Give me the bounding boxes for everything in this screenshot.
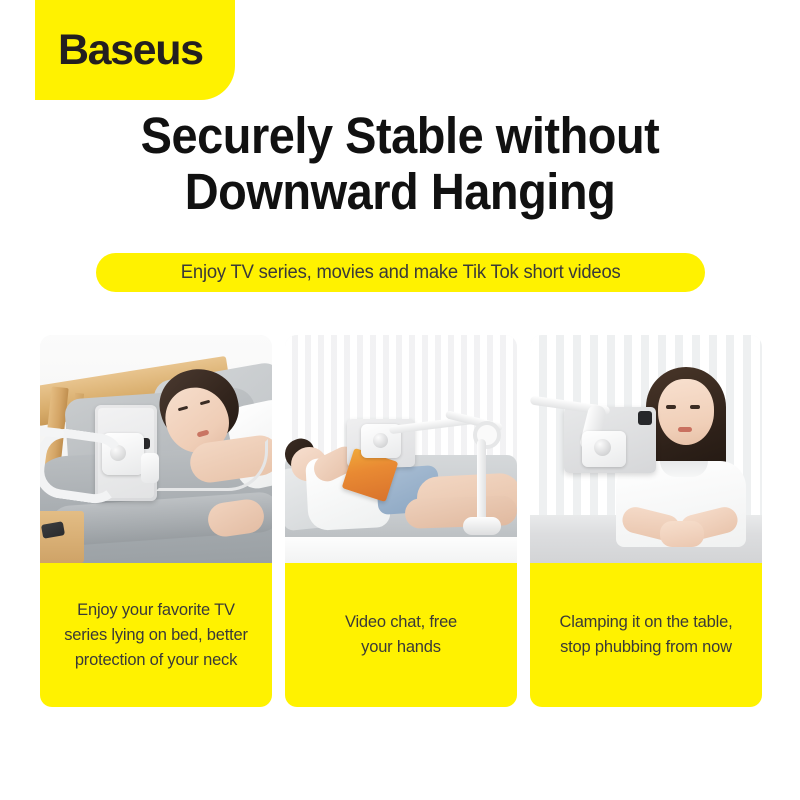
photo-sofa-scene bbox=[285, 335, 517, 563]
headline-line-2: Downward Hanging bbox=[32, 164, 768, 220]
feature-panels: Enjoy your favorite TV series lying on b… bbox=[40, 335, 762, 707]
photo-bed-scene bbox=[40, 335, 272, 563]
feature-panel-desk: Clamping it on the table, stop phubbing … bbox=[530, 335, 762, 707]
caption-text-bed: Enjoy your favorite TV series lying on b… bbox=[64, 598, 248, 673]
brand-logo-block: Baseus bbox=[35, 0, 235, 100]
photo-desk-scene bbox=[530, 335, 762, 563]
caption-box-desk: Clamping it on the table, stop phubbing … bbox=[530, 563, 762, 707]
charging-cable bbox=[156, 439, 268, 491]
eye-left bbox=[666, 405, 676, 409]
caption-box-bed: Enjoy your favorite TV series lying on b… bbox=[40, 563, 272, 707]
clasped-hands bbox=[660, 521, 704, 547]
subtitle-banner: Enjoy TV series, movies and make Tik Tok… bbox=[96, 253, 705, 292]
caption-text-desk: Clamping it on the table, stop phubbing … bbox=[560, 610, 733, 660]
woman-face bbox=[658, 379, 714, 445]
caption-sofa-line-1: Video chat, free bbox=[345, 613, 457, 631]
page-title: Securely Stable without Downward Hanging bbox=[32, 108, 768, 220]
caption-bed-line-1: Enjoy your favorite TV bbox=[77, 601, 235, 619]
floor bbox=[285, 537, 517, 563]
caption-bed-line-3: protection of your neck bbox=[75, 651, 237, 669]
subtitle-text: Enjoy TV series, movies and make Tik Tok… bbox=[181, 262, 621, 284]
caption-box-sofa: Video chat, free your hands bbox=[285, 563, 517, 707]
holder-clamp-base bbox=[463, 517, 501, 535]
caption-desk-line-2: stop phubbing from now bbox=[560, 638, 732, 656]
holder-adjust-knob bbox=[373, 433, 388, 448]
product-marketing-page: Baseus Securely Stable without Downward … bbox=[0, 0, 800, 800]
caption-sofa-line-2: your hands bbox=[361, 638, 441, 656]
caption-desk-line-1: Clamping it on the table, bbox=[560, 613, 733, 631]
caption-bed-line-2: series lying on bed, better bbox=[64, 626, 248, 644]
holder-vertical-pole bbox=[477, 439, 486, 525]
tablet-camera bbox=[638, 411, 652, 425]
headline-line-1: Securely Stable without bbox=[32, 108, 768, 164]
holder-adjust-knob bbox=[594, 439, 611, 456]
feature-panel-bed: Enjoy your favorite TV series lying on b… bbox=[40, 335, 272, 707]
caption-text-sofa: Video chat, free your hands bbox=[345, 610, 457, 660]
lips bbox=[678, 427, 692, 432]
brand-logo-text: Baseus bbox=[58, 26, 203, 74]
feature-panel-sofa: Video chat, free your hands bbox=[285, 335, 517, 707]
eye-right bbox=[690, 405, 700, 409]
